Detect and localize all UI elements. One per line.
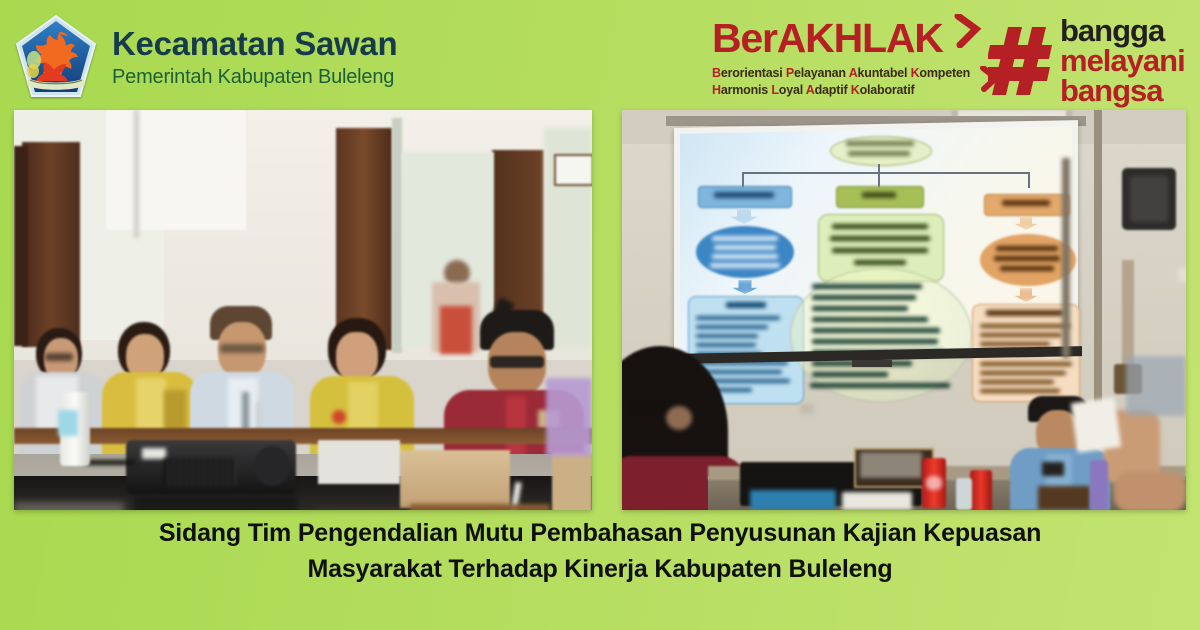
bangga-line3: bangsa	[1060, 76, 1185, 106]
bangga-melayani-bangsa-logo: bangga melayani bangsa	[988, 16, 1185, 105]
banner-root: Kecamatan Sawan Pemerintah Kabupaten Bul…	[0, 0, 1200, 630]
photo-meeting-room-participants	[14, 110, 592, 510]
caption-line-2: Masyarakat Terhadap Kinerja Kabupaten Bu…	[0, 552, 1200, 588]
brand-text: Kecamatan Sawan Pemerintah Kabupaten Bul…	[112, 27, 397, 87]
bangga-line1: bangga	[1060, 16, 1185, 46]
berakhlak-tagline: Berorientasi Pelayanan Akuntabel Kompete…	[712, 65, 980, 98]
brand-subtitle: Pemerintah Kabupaten Buleleng	[112, 67, 397, 87]
brand-block: Kecamatan Sawan Pemerintah Kabupaten Bul…	[14, 14, 397, 100]
header: Kecamatan Sawan Pemerintah Kabupaten Bul…	[0, 0, 1200, 110]
photo-presentation-screen	[622, 110, 1186, 510]
caption-block: Sidang Tim Pengendalian Mutu Pembahasan …	[0, 516, 1200, 587]
bangga-text: bangga melayani bangsa	[1060, 16, 1185, 105]
page-title: Kecamatan Sawan	[112, 27, 397, 60]
berakhlak-tagline-line2: Harmonis Loyal Adaptif Kolaboratif	[712, 82, 980, 99]
caption-line-1: Sidang Tim Pengendalian Mutu Pembahasan …	[0, 516, 1200, 552]
berakhlak-logo: BerAKHLAK Berorientasi Pelayanan Akuntab…	[712, 18, 980, 98]
berakhlak-tagline-line1: Berorientasi Pelayanan Akuntabel Kompete…	[712, 65, 980, 82]
buleleng-emblem-icon	[14, 14, 98, 100]
hash-icon	[988, 23, 1054, 99]
bangga-line2: melayani	[1060, 46, 1185, 76]
chevron-accent-icon	[954, 14, 984, 48]
berakhlak-wordmark: BerAKHLAK	[712, 18, 980, 59]
